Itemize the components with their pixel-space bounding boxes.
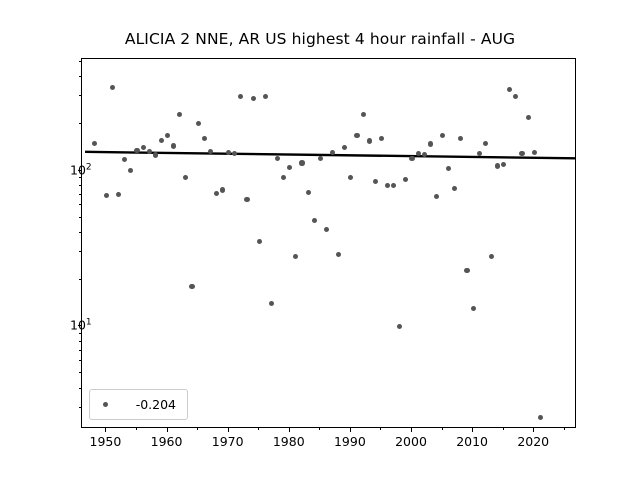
x-axis-tick — [289, 428, 290, 432]
scatter-point — [477, 151, 482, 156]
x-axis-tick — [105, 428, 106, 432]
scatter-point — [422, 152, 427, 157]
x-axis-minor-tick — [258, 428, 259, 430]
y-axis-minor-tick — [79, 95, 81, 96]
scatter-point — [538, 415, 543, 420]
x-axis-tick — [350, 428, 351, 432]
scatter-point — [416, 151, 421, 156]
x-axis-tick — [167, 428, 168, 432]
y-axis-minor-tick — [79, 204, 81, 205]
y-axis-minor-tick — [79, 372, 81, 373]
scatter-point — [165, 133, 170, 138]
scatter-point — [202, 136, 207, 141]
scatter-point — [336, 252, 341, 257]
x-axis-tick-label: 2000 — [381, 434, 441, 449]
x-axis-tick-label: 2010 — [442, 434, 502, 449]
y-axis-minor-tick — [79, 279, 81, 280]
scatter-point — [483, 141, 488, 146]
scatter-point — [134, 148, 139, 153]
scatter-point — [324, 227, 329, 232]
scatter-point — [489, 254, 494, 259]
scatter-point — [183, 175, 188, 180]
scatter-point — [373, 179, 378, 184]
scatter-point — [153, 152, 158, 157]
scatter-point — [287, 165, 292, 170]
scatter-point — [171, 143, 176, 148]
scatter-point — [391, 183, 396, 188]
scatter-point — [330, 150, 335, 155]
x-axis-tick — [228, 428, 229, 432]
scatter-point — [238, 94, 243, 99]
scatter-point — [226, 150, 231, 155]
x-axis-minor-tick — [564, 428, 565, 430]
scatter-point — [519, 151, 524, 156]
x-axis-tick-label: 1990 — [320, 434, 380, 449]
scatter-point — [251, 96, 256, 101]
scatter-point — [141, 145, 146, 150]
scatter-point — [306, 190, 311, 195]
scatter-point — [232, 151, 237, 156]
scatter-point — [342, 145, 347, 150]
scatter-point — [379, 136, 384, 141]
plot-area — [81, 58, 576, 428]
scatter-point — [312, 218, 317, 223]
y-axis-minor-tick — [79, 407, 81, 408]
x-axis-tick-label: 1980 — [259, 434, 319, 449]
y-axis-minor-tick — [79, 185, 81, 186]
legend[interactable]: -0.204 — [89, 389, 188, 420]
scatter-point — [318, 156, 323, 161]
scatter-point — [495, 163, 500, 168]
scatter-point — [196, 121, 201, 126]
x-axis-tick-label: 1950 — [75, 434, 135, 449]
y-axis-minor-tick — [79, 177, 81, 178]
y-axis-minor-tick — [79, 123, 81, 124]
scatter-point — [110, 85, 115, 90]
x-axis-minor-tick — [319, 428, 320, 430]
x-axis-minor-tick — [136, 428, 137, 430]
scatter-point — [189, 284, 194, 289]
scatter-point — [471, 306, 476, 311]
x-axis-tick-label: 1970 — [198, 434, 258, 449]
y-axis-minor-tick — [79, 333, 81, 334]
x-axis-minor-tick — [380, 428, 381, 430]
scatter-point — [104, 193, 109, 198]
legend-label: -0.204 — [108, 397, 176, 412]
scatter-point — [159, 138, 164, 143]
scatter-point — [275, 156, 280, 161]
page-title: ALICIA 2 NNE, AR US highest 4 hour rainf… — [0, 30, 640, 48]
x-axis-tick-label: 1960 — [137, 434, 197, 449]
scatter-point — [293, 254, 298, 259]
scatter-point — [208, 149, 213, 154]
scatter-point — [177, 112, 182, 117]
scatter-point — [128, 168, 133, 173]
x-axis-tick — [533, 428, 534, 432]
scatter-point — [532, 150, 537, 155]
scatter-point — [147, 149, 152, 154]
scatter-point — [257, 239, 262, 244]
scatter-point — [116, 192, 121, 197]
scatter-point — [501, 162, 506, 167]
scatter-point — [354, 133, 359, 138]
scatter-point — [263, 94, 268, 99]
scatter-point — [281, 175, 286, 180]
figure-canvas: ALICIA 2 NNE, AR US highest 4 hour rainf… — [0, 0, 640, 480]
scatter-point — [403, 177, 408, 182]
y-axis-minor-tick — [79, 251, 81, 252]
scatter-point — [513, 94, 518, 99]
scatter-point — [452, 186, 457, 191]
x-axis-minor-tick — [442, 428, 443, 430]
scatter-points-layer — [82, 59, 575, 427]
y-axis-minor-tick — [79, 217, 81, 218]
scatter-point — [244, 197, 249, 202]
scatter-point — [409, 156, 414, 161]
scatter-point — [361, 112, 366, 117]
y-axis-minor-tick — [79, 61, 81, 62]
x-axis-tick-label: 2020 — [503, 434, 563, 449]
x-axis-minor-tick — [503, 428, 504, 430]
scatter-point — [440, 133, 445, 138]
x-axis-tick — [411, 428, 412, 432]
scatter-point — [122, 157, 127, 162]
y-axis-minor-tick — [79, 194, 81, 195]
scatter-point — [367, 138, 372, 143]
x-axis-tick — [472, 428, 473, 432]
scatter-point — [434, 194, 439, 199]
scatter-point — [385, 183, 390, 188]
x-axis-minor-tick — [197, 428, 198, 430]
scatter-point — [299, 160, 304, 165]
scatter-point — [348, 175, 353, 180]
scatter-point — [507, 87, 512, 92]
y-axis-minor-tick — [79, 350, 81, 351]
y-axis-minor-tick — [79, 388, 81, 389]
y-axis-minor-tick — [79, 76, 81, 77]
scatter-point — [464, 268, 469, 273]
scatter-point — [220, 187, 225, 192]
y-axis-minor-tick — [79, 341, 81, 342]
scatter-point — [428, 141, 433, 146]
scatter-point — [446, 166, 451, 171]
y-axis-minor-tick — [79, 232, 81, 233]
scatter-point — [214, 191, 219, 196]
y-axis-minor-tick — [79, 360, 81, 361]
scatter-point — [92, 141, 97, 146]
scatter-point — [458, 136, 463, 141]
scatter-point — [526, 115, 531, 120]
scatter-point — [269, 301, 274, 306]
scatter-point — [397, 324, 402, 329]
